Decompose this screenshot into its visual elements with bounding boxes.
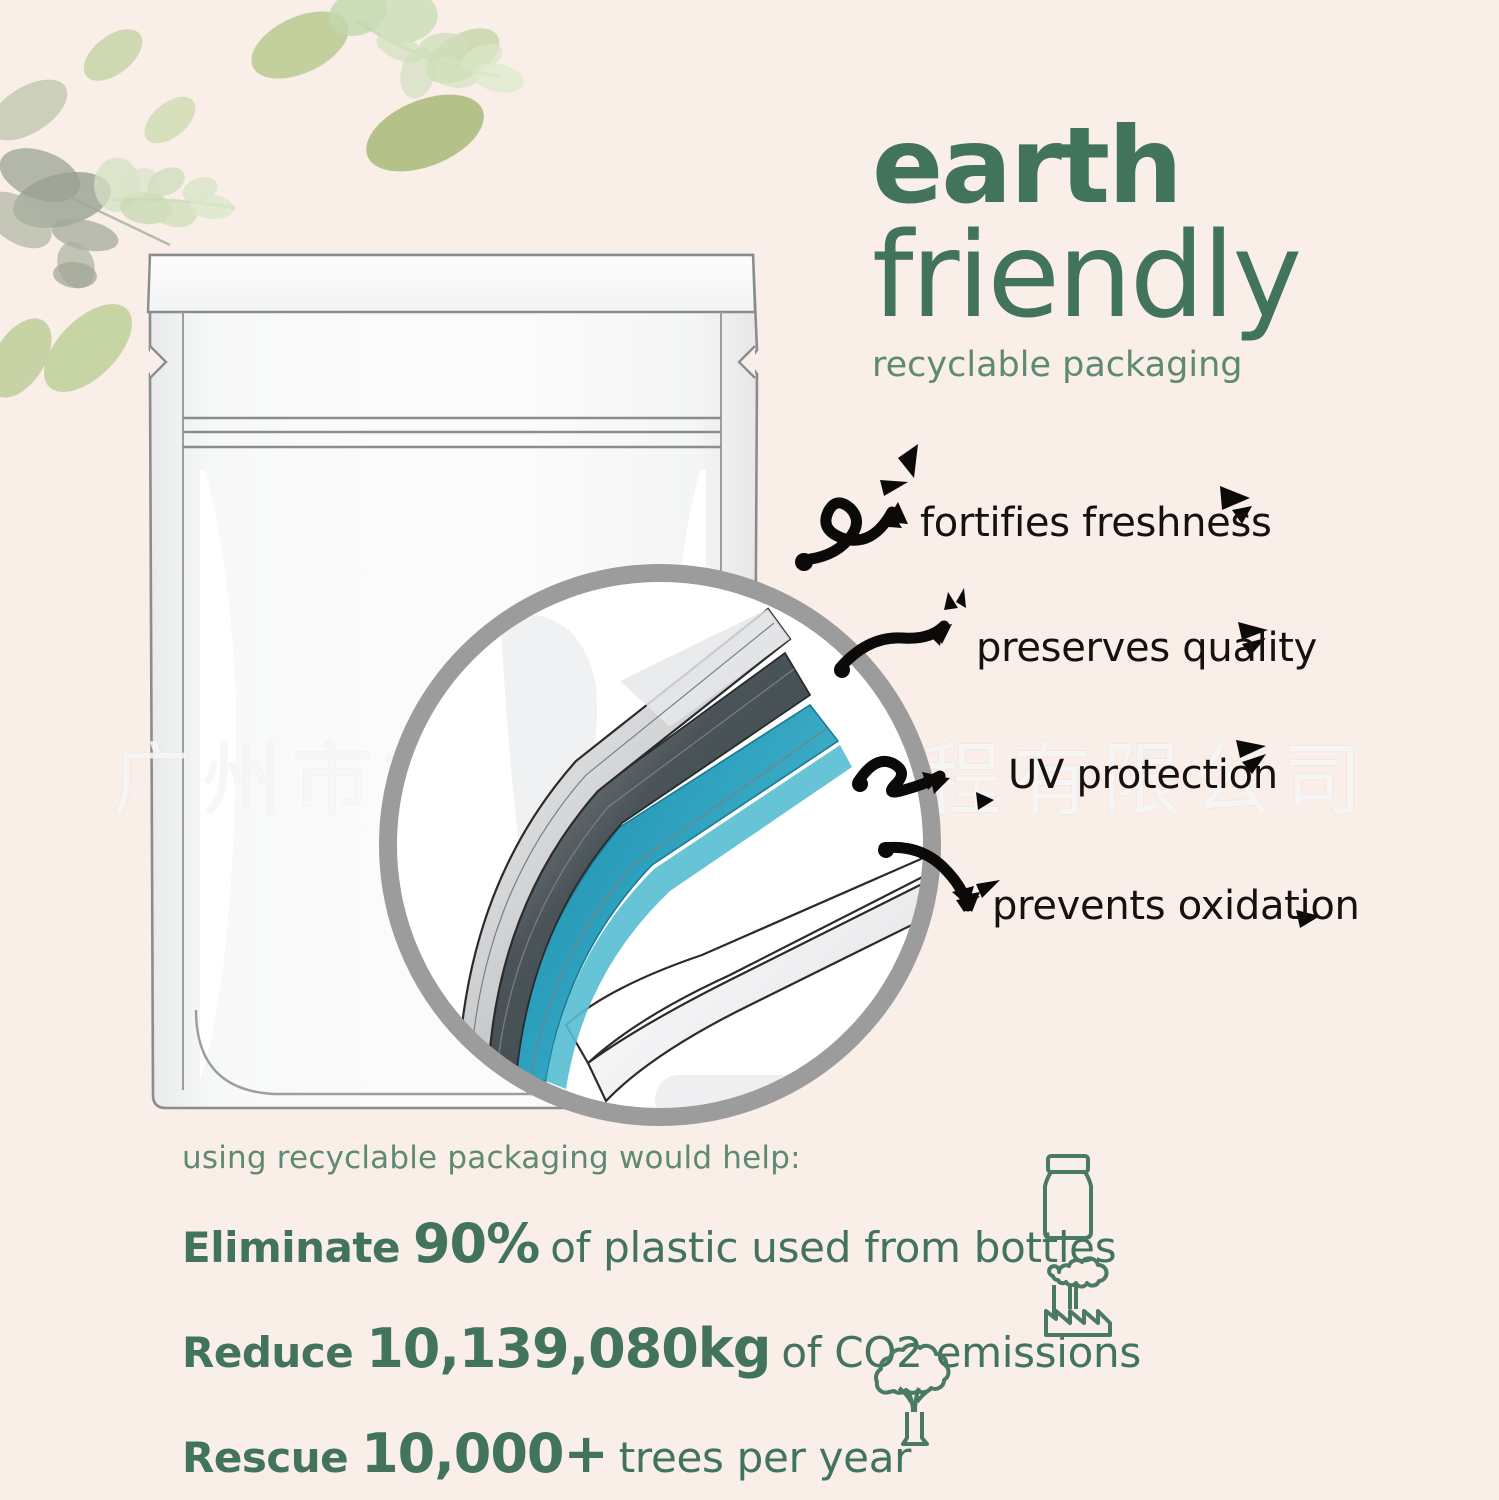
headline-subtitle: recyclable packaging [872, 345, 1472, 385]
arrow-origin-dot-3 [852, 776, 868, 792]
stat-row: Rescue 10,000+ trees per year [182, 1422, 1362, 1485]
callout-label-uv-protection: UV protection [1008, 752, 1278, 798]
headline-line1: earth [872, 118, 1472, 215]
arrowhead-3b [930, 776, 950, 794]
stat-verb: Eliminate [182, 1223, 400, 1272]
stat-value: 10,139,080kg [366, 1317, 770, 1380]
callout-group: fortifies freshness preserves quality UV… [780, 440, 1480, 980]
stat-value: 90% [413, 1212, 539, 1275]
infographic-canvas: 广州市益体健生物工程有限公司 [0, 0, 1499, 1500]
headline-block: earth friendly recyclable packaging [872, 118, 1472, 385]
pouch-header-strip [148, 255, 755, 312]
callout-label-fortifies-freshness: fortifies freshness [920, 500, 1272, 546]
headline-line2: friendly [872, 219, 1472, 331]
factory-icon [1032, 1253, 1128, 1346]
tree-icon-svg [855, 1340, 973, 1452]
factory-icon-svg [1032, 1253, 1128, 1341]
stat-verb: Reduce [182, 1328, 353, 1377]
tree-icon [855, 1340, 973, 1457]
stat-row: Reduce 10,139,080kg of CO2 emissions [182, 1317, 1362, 1380]
callout-label-preserves-quality: preserves quality [976, 625, 1317, 671]
stat-verb: Rescue [182, 1433, 348, 1482]
callout-label-prevents-oxidation: prevents oxidation [992, 883, 1360, 929]
curly-arrow-up-right-icon [802, 503, 892, 560]
arrow-origin-dot-1 [795, 553, 813, 571]
curly-arrow-down-right-icon [884, 847, 968, 906]
stat-value: 10,000+ [361, 1422, 608, 1485]
stats-intro: using recyclable packaging would help: [182, 1140, 1362, 1176]
arrow-origin-dot-2 [834, 662, 850, 678]
bottle-icon [1034, 1152, 1106, 1249]
stat-row: Eliminate 90% of plastic used from bottl… [182, 1212, 1362, 1275]
bottle-icon-svg [1034, 1152, 1106, 1244]
stats-block: using recyclable packaging would help: E… [182, 1140, 1362, 1485]
arrow-origin-dot-4 [878, 842, 894, 858]
